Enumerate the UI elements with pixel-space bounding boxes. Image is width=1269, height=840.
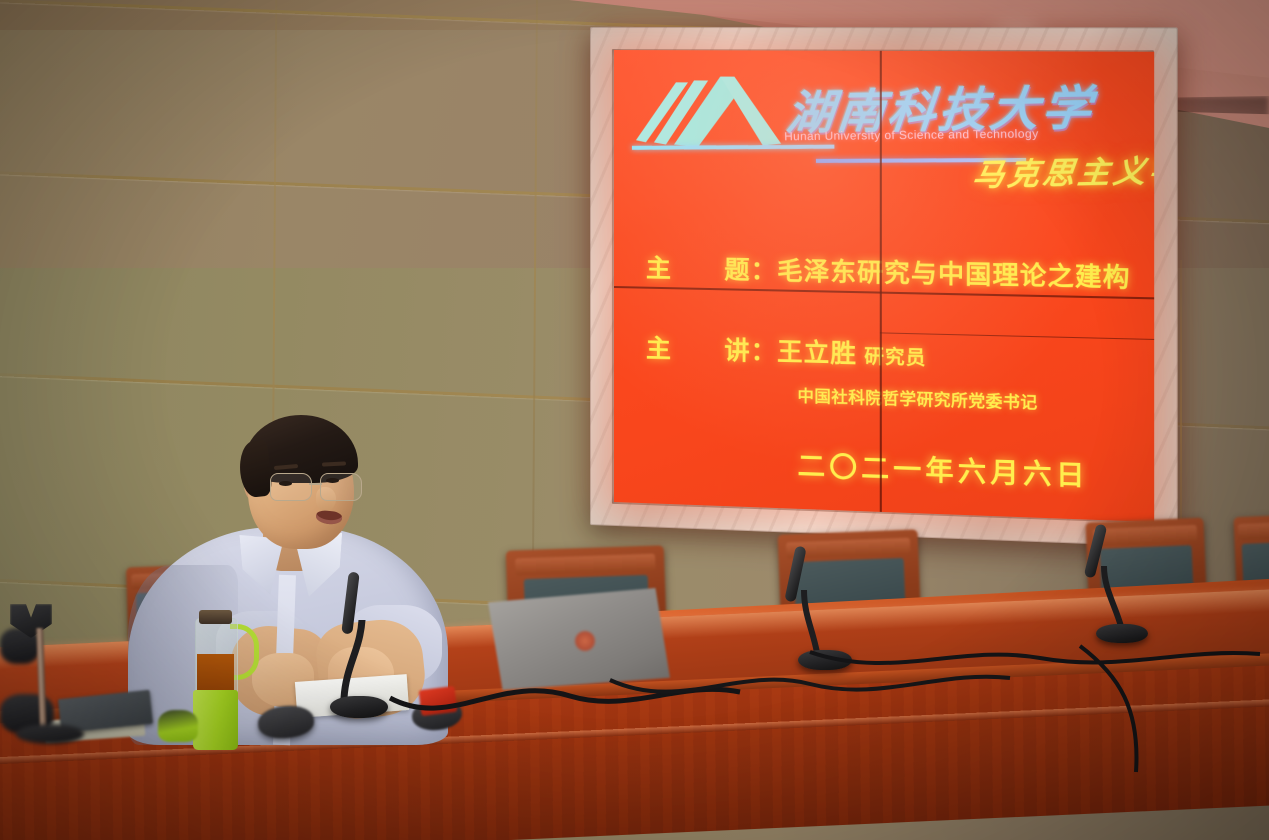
eye-right bbox=[326, 478, 339, 483]
tea-bottle bbox=[192, 618, 239, 746]
speaker-label: 主 讲： bbox=[646, 335, 777, 367]
mountain-chevron-mark-icon bbox=[628, 64, 810, 150]
lens-left bbox=[270, 473, 312, 501]
camera-stand-foot bbox=[16, 724, 84, 744]
school-name-cn: 马克思主义学院 bbox=[971, 144, 1155, 195]
university-name-en: Hunan University of Science and Technolo… bbox=[784, 128, 1039, 143]
university-logo-lockup: 湖南科技大学 Hunan University of Science and T… bbox=[628, 64, 934, 172]
led-panel-seam bbox=[880, 51, 882, 512]
speaker-name: 王立胜 bbox=[777, 338, 857, 368]
bottle-cap bbox=[199, 610, 232, 624]
glasses-bridge bbox=[309, 483, 322, 485]
photo-scene: 湖南科技大学 Hunan University of Science and T… bbox=[0, 0, 1269, 840]
glasses-icon bbox=[270, 473, 366, 503]
speaker-rank: 研究员 bbox=[864, 346, 926, 369]
topic-value: 毛泽东研究与中国理论之建构 bbox=[777, 257, 1130, 293]
topic-label: 主 题： bbox=[646, 255, 777, 286]
led-video-wall[interactable]: 湖南科技大学 Hunan University of Science and T… bbox=[614, 50, 1154, 522]
hair-side bbox=[237, 440, 273, 499]
eye-left bbox=[279, 481, 292, 486]
bottle-sleeve bbox=[193, 690, 238, 750]
bottle-lid-spare bbox=[158, 710, 198, 742]
cable-bundle bbox=[380, 640, 1269, 780]
lecture-date: 二〇二一年六月六日 bbox=[797, 444, 1088, 494]
lens-right bbox=[320, 473, 362, 501]
speaker-affiliation: 中国社科院哲学研究所党委书记 bbox=[797, 382, 1037, 413]
